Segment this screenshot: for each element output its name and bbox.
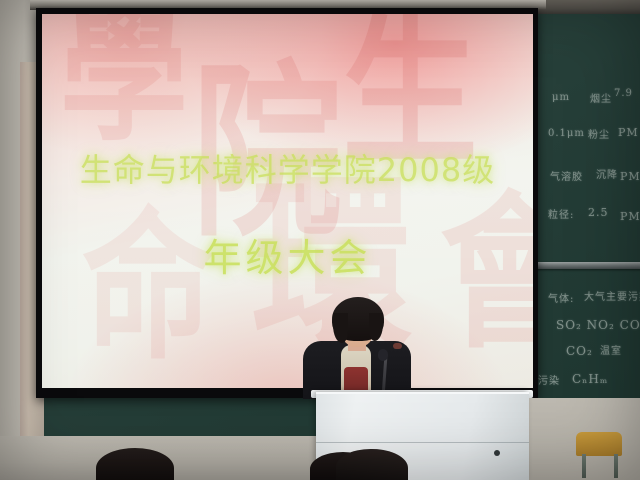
speaker-hair: [332, 297, 384, 341]
chair-leg: [614, 454, 618, 478]
projection-screen: 學 院 生 會 命 環 生命与环境科学学院2008级 年级大会: [42, 14, 533, 388]
speaker-mouth: [393, 343, 402, 349]
chalk-note: 气体:: [548, 290, 574, 305]
chalk-rail-upper: [532, 262, 640, 269]
chalk-note: 沉降: [596, 166, 618, 181]
chalk-note: 2.5: [588, 206, 609, 219]
chair-back: [576, 432, 622, 456]
chalk-note: SO₂ NO₂ CO: [556, 318, 640, 332]
chalk-note: 粉尘: [588, 126, 610, 141]
chalk-note: 0.1μm: [548, 128, 585, 139]
chalk-note: 温室: [600, 342, 622, 357]
chalk-note: 污染: [538, 372, 560, 387]
audience-head: [96, 448, 174, 480]
lecture-hall-photo: μm烟尘7.90.1μm粉尘PM气溶胶沉降PM粒径:2.5PM气体:大气主要污染…: [0, 0, 640, 480]
chalk-note: PM: [620, 210, 640, 223]
podium-knob: [494, 450, 500, 456]
chalk-note: PM: [618, 126, 639, 139]
microphone-head: [378, 349, 388, 361]
projection-screen-frame: 學 院 生 會 命 環 生命与环境科学学院2008级 年级大会: [36, 8, 538, 398]
chalk-note: CₙHₘ: [572, 372, 608, 386]
chalk-note: PM: [620, 170, 640, 183]
chalk-note: CO₂: [566, 344, 593, 358]
chalk-note: 7.9: [614, 88, 633, 99]
chair-leg: [582, 454, 586, 478]
audience-head: [336, 449, 408, 480]
podium-seam: [316, 442, 529, 443]
chalk-note: μm: [552, 92, 570, 103]
chalk-note: 烟尘: [590, 90, 612, 105]
chalk-note: 大气主要污染物: [584, 288, 640, 303]
slide-title-main: 生命与环境科学学院2008级: [42, 145, 533, 191]
speaker-figure: [303, 297, 411, 397]
slide-title-sub: 年级大会: [42, 227, 533, 282]
chalk-note: 粒径:: [548, 206, 574, 221]
watermark-char: 學: [60, 14, 190, 150]
chalk-note: 气溶胶: [550, 168, 583, 183]
